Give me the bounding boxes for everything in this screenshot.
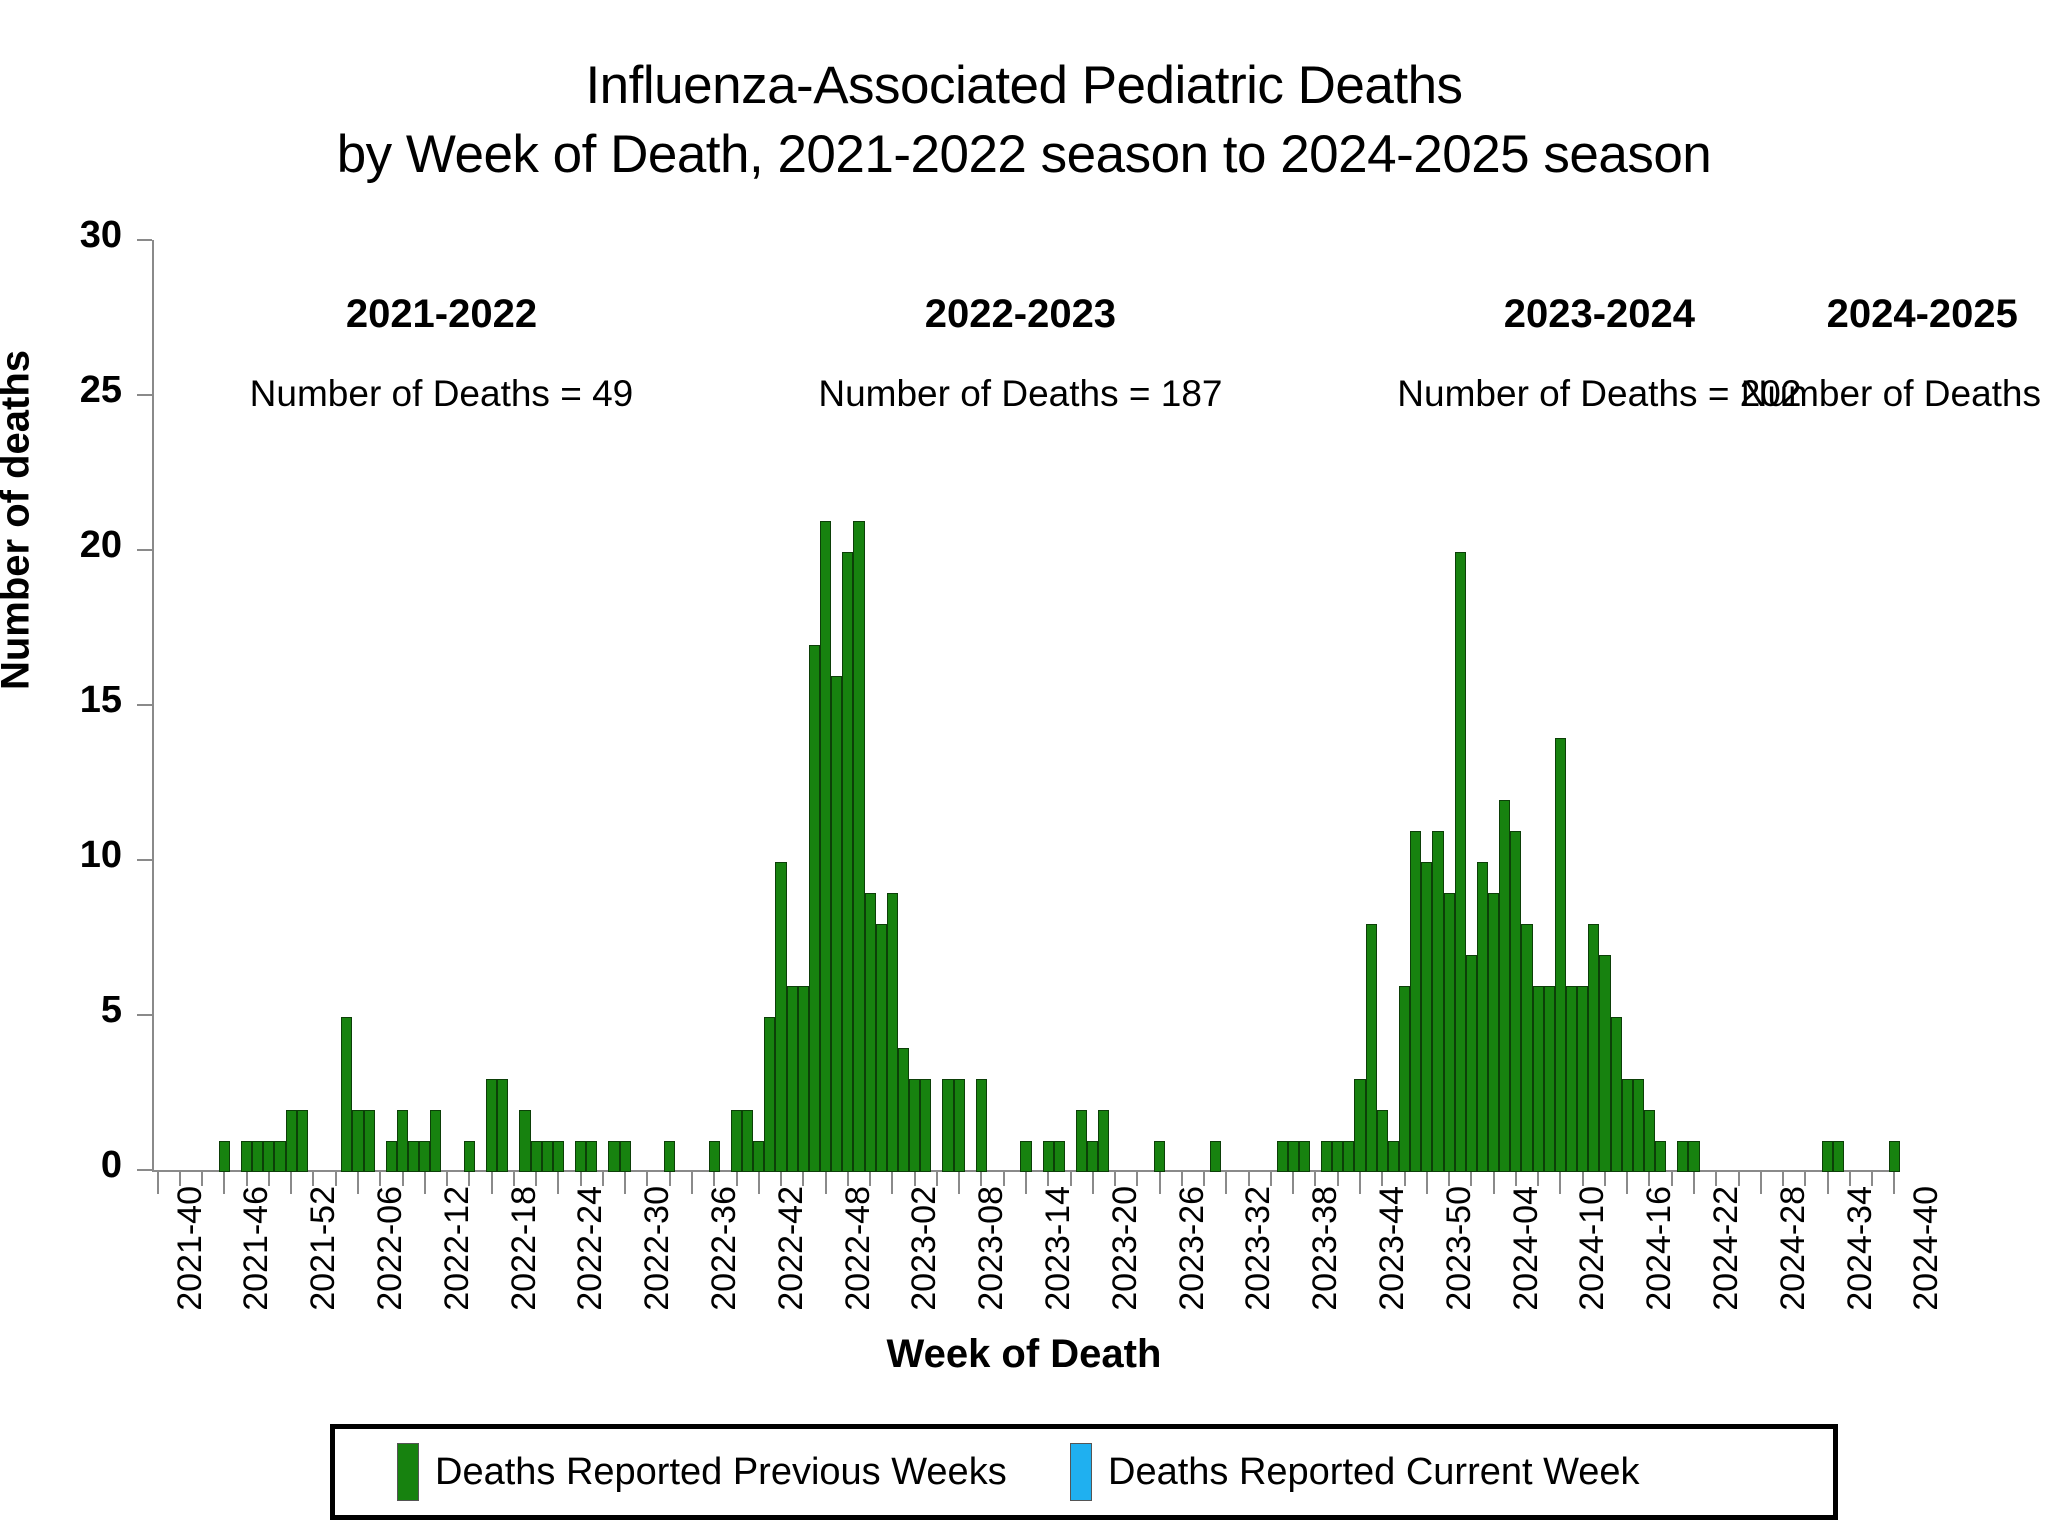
season-death-count: Number of Deaths = 49 — [250, 373, 634, 415]
x-axis-major-tick — [290, 1172, 292, 1194]
bar — [1043, 1141, 1054, 1172]
x-axis-tick-label: 2022-06 — [371, 1186, 410, 1311]
bar — [764, 1017, 775, 1172]
x-axis-minor-tick — [535, 1172, 537, 1186]
x-axis-minor-tick — [468, 1172, 470, 1186]
x-axis-minor-tick — [1381, 1172, 1383, 1186]
x-axis-major-tick — [1426, 1172, 1428, 1194]
bar — [1299, 1141, 1310, 1172]
bar — [1644, 1110, 1655, 1172]
bar — [497, 1079, 508, 1172]
x-axis-minor-tick — [602, 1172, 604, 1186]
x-axis-tick-label: 2021-46 — [237, 1186, 276, 1311]
season-death-count: Number of Deaths = 0 — [1741, 373, 2048, 415]
bar — [1622, 1079, 1633, 1172]
x-axis-minor-tick — [646, 1172, 648, 1186]
x-axis-minor-tick — [1203, 1172, 1205, 1186]
bar — [1410, 831, 1421, 1172]
bar — [1455, 552, 1466, 1172]
bar — [853, 521, 864, 1172]
x-axis-major-tick — [1827, 1172, 1829, 1194]
bar — [1076, 1110, 1087, 1172]
x-axis-title: Week of Death — [0, 1332, 2048, 1377]
x-axis-minor-tick — [379, 1172, 381, 1186]
x-axis-tick-label: 2022-36 — [705, 1186, 744, 1311]
bar — [1633, 1079, 1644, 1172]
bar — [865, 893, 876, 1172]
x-axis-major-tick — [1292, 1172, 1294, 1194]
y-axis-tick — [137, 1014, 152, 1016]
bar — [820, 521, 831, 1172]
x-axis-minor-tick — [179, 1172, 181, 1186]
bar — [1354, 1079, 1365, 1172]
x-axis-tick-label: 2023-32 — [1239, 1186, 1278, 1311]
legend-swatch-icon — [1070, 1443, 1092, 1501]
x-axis-minor-tick — [1515, 1172, 1517, 1186]
bar — [909, 1079, 920, 1172]
x-axis-minor-tick — [1582, 1172, 1584, 1186]
x-axis-major-tick — [1359, 1172, 1361, 1194]
x-axis-major-tick — [825, 1172, 827, 1194]
x-axis-minor-tick — [1248, 1172, 1250, 1186]
x-axis-major-tick — [1159, 1172, 1161, 1194]
bar — [419, 1141, 430, 1172]
chart-legend: Deaths Reported Previous WeeksDeaths Rep… — [330, 1424, 1838, 1520]
x-axis-major-tick — [1760, 1172, 1762, 1194]
x-axis-minor-tick — [1871, 1172, 1873, 1186]
x-axis-minor-tick — [246, 1172, 248, 1186]
x-axis-minor-tick — [1782, 1172, 1784, 1186]
x-axis-minor-tick — [513, 1172, 515, 1186]
x-axis-major-tick — [958, 1172, 960, 1194]
x-axis-minor-tick — [869, 1172, 871, 1186]
x-axis-major-tick — [1893, 1172, 1895, 1194]
bar — [286, 1110, 297, 1172]
x-axis-major-tick — [157, 1172, 159, 1194]
bar — [1677, 1141, 1688, 1172]
x-axis-major-tick — [357, 1172, 359, 1194]
bar — [1588, 924, 1599, 1172]
x-axis-tick-label: 2021-52 — [304, 1186, 343, 1311]
bar — [1098, 1110, 1109, 1172]
x-axis-minor-tick — [736, 1172, 738, 1186]
x-axis-tick-label: 2023-26 — [1173, 1186, 1212, 1311]
bar — [1577, 986, 1588, 1172]
x-axis-tick-label: 2024-22 — [1707, 1186, 1746, 1311]
chart-title-line-2: by Week of Death, 2021-2022 season to 20… — [0, 121, 2048, 190]
x-axis-tick-label: 2024-16 — [1640, 1186, 1679, 1311]
x-axis-major-tick — [424, 1172, 426, 1194]
x-axis-minor-tick — [802, 1172, 804, 1186]
chart-title-line-1: Influenza-Associated Pediatric Deaths — [0, 52, 2048, 121]
x-axis-minor-tick — [1337, 1172, 1339, 1186]
bar — [1366, 924, 1377, 1172]
x-axis-major-tick — [1092, 1172, 1094, 1194]
y-axis-tick-label: 15 — [12, 679, 122, 722]
x-axis-tick-label: 2024-40 — [1907, 1186, 1946, 1311]
chart-title: Influenza-Associated Pediatric Deaths by… — [0, 52, 2048, 190]
x-axis-minor-tick — [1270, 1172, 1272, 1186]
season-death-count: Number of Deaths = 187 — [818, 373, 1222, 415]
x-axis-tick-label: 2024-04 — [1507, 1186, 1546, 1311]
x-axis-minor-tick — [1003, 1172, 1005, 1186]
bar — [1154, 1141, 1165, 1172]
y-axis-tick — [137, 859, 152, 861]
x-axis-minor-tick — [1314, 1172, 1316, 1186]
bar — [709, 1141, 720, 1172]
bar — [887, 893, 898, 1172]
bar — [1521, 924, 1532, 1172]
bar — [553, 1141, 564, 1172]
x-axis-tick-label: 2022-24 — [571, 1186, 610, 1311]
x-axis-minor-tick — [1404, 1172, 1406, 1186]
bar — [1343, 1141, 1354, 1172]
bar — [464, 1141, 475, 1172]
y-axis-line — [152, 240, 154, 1172]
x-axis-tick-label: 2021-40 — [171, 1186, 210, 1311]
x-axis-minor-tick — [847, 1172, 849, 1186]
x-axis-minor-tick — [402, 1172, 404, 1186]
y-axis-tick — [137, 704, 152, 706]
x-axis-tick-label: 2023-20 — [1106, 1186, 1145, 1311]
bar — [1054, 1141, 1065, 1172]
bar — [219, 1141, 230, 1172]
bar — [397, 1110, 408, 1172]
bar — [1444, 893, 1455, 1172]
x-axis-minor-tick — [1470, 1172, 1472, 1186]
bar — [1399, 986, 1410, 1172]
x-axis-minor-tick — [914, 1172, 916, 1186]
bar — [608, 1141, 619, 1172]
x-axis-minor-tick — [936, 1172, 938, 1186]
legend-label: Deaths Reported Previous Weeks — [435, 1451, 1007, 1494]
x-axis-minor-tick — [446, 1172, 448, 1186]
season-label: 2022-2023 — [818, 292, 1222, 337]
x-axis-major-tick — [691, 1172, 693, 1194]
bar — [1889, 1141, 1900, 1172]
legend-swatch-icon — [397, 1443, 419, 1501]
x-axis-minor-tick — [980, 1172, 982, 1186]
bar — [1288, 1141, 1299, 1172]
x-axis-tick-label: 2024-34 — [1841, 1186, 1880, 1311]
x-axis-minor-tick — [201, 1172, 203, 1186]
x-axis-major-tick — [624, 1172, 626, 1194]
x-axis-minor-tick — [1804, 1172, 1806, 1186]
x-axis-minor-tick — [1715, 1172, 1717, 1186]
bar — [1466, 955, 1477, 1172]
bar — [1332, 1141, 1343, 1172]
bar — [1833, 1141, 1844, 1172]
bar — [1544, 986, 1555, 1172]
legend-item[interactable]: Deaths Reported Current Week — [1070, 1443, 1640, 1501]
bar — [1388, 1141, 1399, 1172]
x-axis-tick-label: 2024-28 — [1774, 1186, 1813, 1311]
x-axis-major-tick — [223, 1172, 225, 1194]
bar — [486, 1079, 497, 1172]
x-axis-minor-tick — [335, 1172, 337, 1186]
season-annotation: 2024-2025Number of Deaths = 0 — [1741, 292, 2048, 415]
bar — [898, 1048, 909, 1172]
bar — [1277, 1141, 1288, 1172]
bar — [753, 1141, 764, 1172]
bar — [620, 1141, 631, 1172]
x-axis-minor-tick — [1537, 1172, 1539, 1186]
bar — [1555, 738, 1566, 1172]
bar — [1599, 955, 1610, 1172]
chart-page: Influenza-Associated Pediatric Deaths by… — [0, 0, 2048, 1536]
bar — [1499, 800, 1510, 1172]
bar — [531, 1141, 542, 1172]
bar — [252, 1141, 263, 1172]
x-axis-tick-label: 2023-02 — [905, 1186, 944, 1311]
x-axis-tick-label: 2023-50 — [1440, 1186, 1479, 1311]
x-axis-major-tick — [557, 1172, 559, 1194]
y-axis-tick — [137, 394, 152, 396]
x-axis-tick-label: 2024-10 — [1573, 1186, 1612, 1311]
bar — [1210, 1141, 1221, 1172]
x-axis-minor-tick — [1114, 1172, 1116, 1186]
season-annotation: 2021-2022Number of Deaths = 49 — [250, 292, 634, 415]
bar — [976, 1079, 987, 1172]
bar — [586, 1141, 597, 1172]
bar — [430, 1110, 441, 1172]
bar — [1688, 1141, 1699, 1172]
bar — [274, 1141, 285, 1172]
y-axis-tick — [137, 549, 152, 551]
x-axis-minor-tick — [580, 1172, 582, 1186]
bar — [664, 1141, 675, 1172]
bar — [575, 1141, 586, 1172]
bar — [1477, 862, 1488, 1172]
bar — [263, 1141, 274, 1172]
bar — [798, 986, 809, 1172]
bar — [408, 1141, 419, 1172]
bar — [341, 1017, 352, 1172]
x-axis-major-tick — [1559, 1172, 1561, 1194]
bar — [1510, 831, 1521, 1172]
x-axis-tick-label: 2022-48 — [839, 1186, 878, 1311]
x-axis-minor-tick — [1849, 1172, 1851, 1186]
x-axis-tick-label: 2022-42 — [772, 1186, 811, 1311]
x-axis-tick-label: 2023-08 — [972, 1186, 1011, 1311]
bar — [1020, 1141, 1031, 1172]
x-axis-tick-label: 2022-18 — [505, 1186, 544, 1311]
x-axis-minor-tick — [1047, 1172, 1049, 1186]
bar — [787, 986, 798, 1172]
bar — [1611, 1017, 1622, 1172]
bar — [1321, 1141, 1332, 1172]
y-axis-tick-label: 0 — [12, 1144, 122, 1187]
bar — [842, 552, 853, 1172]
x-axis-major-tick — [1025, 1172, 1027, 1194]
legend-label: Deaths Reported Current Week — [1108, 1451, 1640, 1494]
bar — [1655, 1141, 1666, 1172]
bar — [1488, 893, 1499, 1172]
bar — [352, 1110, 363, 1172]
x-axis-major-tick — [491, 1172, 493, 1194]
y-axis-tick — [137, 239, 152, 241]
bar — [1377, 1110, 1388, 1172]
x-axis-major-tick — [1493, 1172, 1495, 1194]
x-axis-tick-label: 2023-44 — [1373, 1186, 1412, 1311]
y-axis-tick-label: 20 — [12, 524, 122, 567]
x-axis-minor-tick — [312, 1172, 314, 1186]
x-axis-minor-tick — [1648, 1172, 1650, 1186]
y-axis-tick-label: 25 — [12, 369, 122, 412]
y-axis-tick — [137, 1169, 152, 1171]
bar — [876, 924, 887, 1172]
x-axis-minor-tick — [1671, 1172, 1673, 1186]
x-axis-minor-tick — [1738, 1172, 1740, 1186]
bar — [241, 1141, 252, 1172]
x-axis-minor-tick — [1604, 1172, 1606, 1186]
bar — [1566, 986, 1577, 1172]
bar — [809, 645, 820, 1172]
bar — [831, 676, 842, 1172]
bar — [731, 1110, 742, 1172]
x-axis-minor-tick — [268, 1172, 270, 1186]
x-axis-major-tick — [1626, 1172, 1628, 1194]
season-annotation: 2022-2023Number of Deaths = 187 — [818, 292, 1222, 415]
bar — [942, 1079, 953, 1172]
bar — [1421, 862, 1432, 1172]
x-axis-minor-tick — [780, 1172, 782, 1186]
legend-item[interactable]: Deaths Reported Previous Weeks — [397, 1443, 1007, 1501]
y-axis-tick-label: 10 — [12, 834, 122, 877]
bar — [542, 1141, 553, 1172]
bar — [386, 1141, 397, 1172]
x-axis-minor-tick — [669, 1172, 671, 1186]
season-label: 2024-2025 — [1741, 292, 2048, 337]
bar — [1432, 831, 1443, 1172]
x-axis-tick-label: 2023-14 — [1039, 1186, 1078, 1311]
x-axis-minor-tick — [1448, 1172, 1450, 1186]
x-axis-tick-label: 2023-38 — [1306, 1186, 1345, 1311]
bar — [364, 1110, 375, 1172]
x-axis-minor-tick — [713, 1172, 715, 1186]
x-axis-major-tick — [1225, 1172, 1227, 1194]
x-axis-tick-label: 2022-30 — [638, 1186, 677, 1311]
x-axis-major-tick — [891, 1172, 893, 1194]
bar — [1533, 986, 1544, 1172]
x-axis-tick-label: 2022-12 — [438, 1186, 477, 1311]
y-axis-tick-label: 30 — [12, 214, 122, 257]
x-axis-major-tick — [1693, 1172, 1695, 1194]
bar — [742, 1110, 753, 1172]
bar — [954, 1079, 965, 1172]
bar — [920, 1079, 931, 1172]
bar — [1087, 1141, 1098, 1172]
x-axis-major-tick — [758, 1172, 760, 1194]
bar — [519, 1110, 530, 1172]
y-axis-tick-label: 5 — [12, 989, 122, 1032]
bar — [297, 1110, 308, 1172]
season-label: 2021-2022 — [250, 292, 634, 337]
x-axis-minor-tick — [1136, 1172, 1138, 1186]
x-axis-minor-tick — [1070, 1172, 1072, 1186]
bar — [775, 862, 786, 1172]
x-axis-minor-tick — [1181, 1172, 1183, 1186]
bar — [1822, 1141, 1833, 1172]
